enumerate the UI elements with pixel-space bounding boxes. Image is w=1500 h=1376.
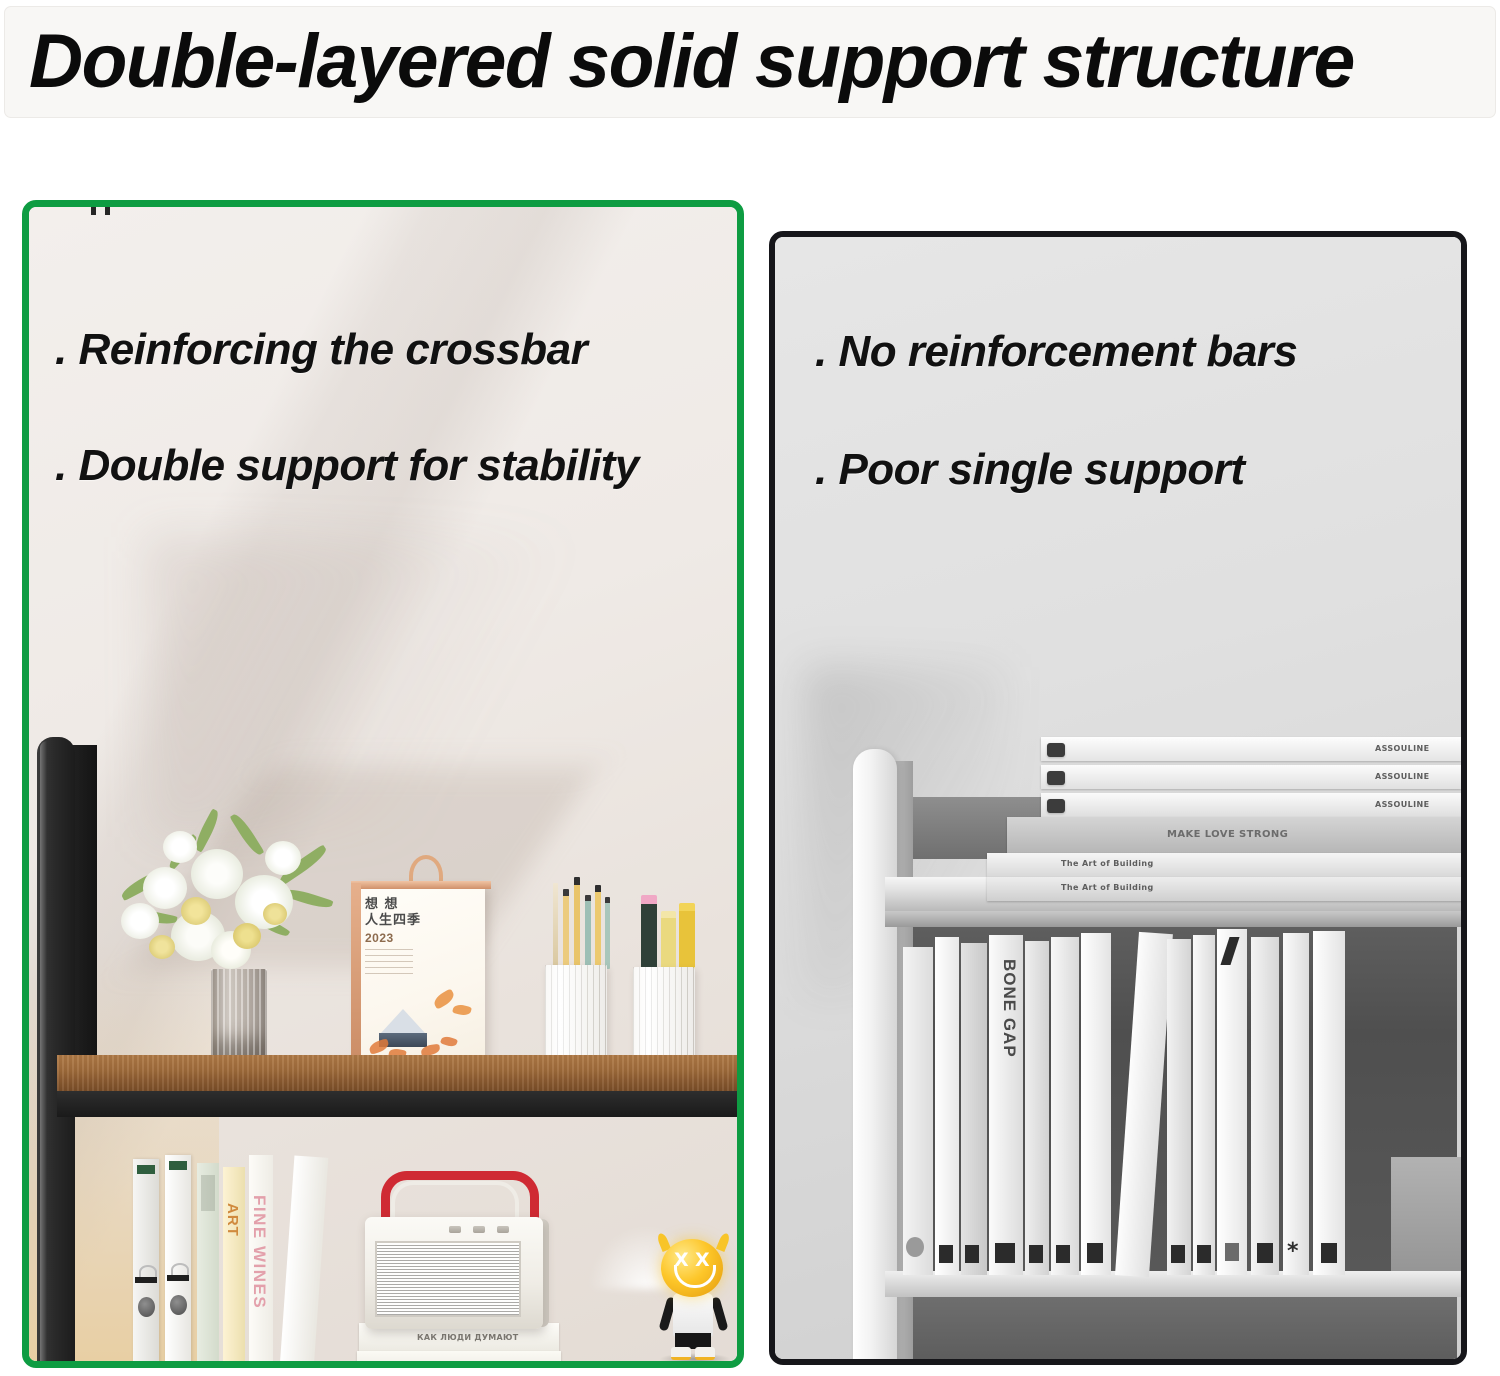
standing-book-7 bbox=[1167, 939, 1191, 1275]
comparison-panel-bad: ASSOULINE ASSOULINE ASSOULINE MAKE LOVE … bbox=[769, 231, 1467, 1365]
middle-shelf-edge bbox=[885, 911, 1461, 927]
top-stacked-book-6 bbox=[987, 877, 1461, 901]
figurine-ear-right bbox=[716, 1232, 731, 1252]
calendar-headline-line1: 想 想 bbox=[365, 897, 399, 912]
good-photo-container: 想 想 人生四季 2023 bbox=[29, 207, 737, 1361]
radio-speaker-grille bbox=[375, 1241, 521, 1317]
standing-book-6 bbox=[1081, 933, 1111, 1275]
pen-holder-left-ribs bbox=[545, 965, 607, 1065]
top-stacked-book-6-title: The Art of Building bbox=[1061, 883, 1154, 892]
figurine-shoe-right bbox=[695, 1347, 715, 1360]
calendar-frame-left bbox=[351, 883, 361, 1077]
bad-product-photo: ASSOULINE ASSOULINE ASSOULINE MAKE LOVE … bbox=[775, 237, 1461, 1359]
top-stacked-book-5-title: The Art of Building bbox=[1061, 859, 1154, 868]
calendar-body-text bbox=[365, 949, 413, 979]
figurine-body bbox=[673, 1293, 713, 1337]
standing-book-9 bbox=[1217, 929, 1247, 1275]
good-product-photo: 想 想 人生四季 2023 bbox=[29, 207, 737, 1361]
book-spine-art: ART bbox=[224, 1203, 241, 1237]
comparison-panel-good: 想 想 人生四季 2023 bbox=[22, 200, 744, 1368]
headphone-hook-right bbox=[105, 207, 110, 215]
top-stacked-book-1-publisher: ASSOULINE bbox=[1375, 744, 1430, 753]
calendar-tent-shape bbox=[381, 1009, 425, 1033]
vase-ribbing bbox=[211, 969, 267, 1061]
top-stacked-book-5 bbox=[987, 853, 1461, 877]
standing-book-11 bbox=[1283, 933, 1309, 1275]
pen-holder-right-ribs bbox=[633, 967, 695, 1065]
white-frame-post bbox=[853, 749, 897, 1359]
bad-photo-container: ASSOULINE ASSOULINE ASSOULINE MAKE LOVE … bbox=[775, 237, 1461, 1359]
calendar-frame-top bbox=[351, 881, 491, 889]
standing-book-spine-bone-gap: BONE GAP bbox=[999, 959, 1019, 1058]
calendar-year: 2023 bbox=[365, 931, 394, 945]
top-stacked-book-2-publisher: ASSOULINE bbox=[1375, 772, 1430, 781]
standing-book-2 bbox=[935, 937, 959, 1275]
calendar-headline-line2: 人生四季 bbox=[365, 913, 421, 928]
standing-book-8 bbox=[1193, 935, 1215, 1275]
standing-book-asterisk: * bbox=[1287, 1239, 1299, 1264]
metal-frame-highlight bbox=[40, 741, 47, 1361]
flower-bouquet bbox=[115, 819, 345, 994]
standing-book-3 bbox=[961, 943, 987, 1275]
radio-knob-2 bbox=[473, 1226, 485, 1233]
standing-book-4 bbox=[1025, 941, 1049, 1275]
standing-book-1 bbox=[903, 947, 933, 1275]
top-stacked-book-4-title: MAKE LOVE STRONG bbox=[1167, 829, 1288, 840]
standing-book-5 bbox=[1051, 937, 1079, 1275]
wood-shelf-top-grain bbox=[57, 1055, 737, 1091]
standing-book-12 bbox=[1313, 931, 1345, 1275]
standing-book-10 bbox=[1251, 937, 1279, 1275]
title-banner: Double-layered solid support structure bbox=[4, 6, 1496, 118]
bottom-shelf-cavity bbox=[891, 1297, 1457, 1359]
book-spine-fine-wines: FINE WINES bbox=[249, 1195, 269, 1309]
page-title: Double-layered solid support structure bbox=[29, 24, 1354, 100]
stacked-book-1-title: КАК ЛЮДИ ДУМАЮТ bbox=[417, 1333, 519, 1342]
calendar-illustration bbox=[367, 995, 473, 1061]
radio-knob-3 bbox=[497, 1226, 509, 1233]
figurine-arm-right bbox=[710, 1296, 728, 1331]
radio-knob-1 bbox=[449, 1226, 461, 1233]
metal-rail-top bbox=[57, 1091, 737, 1117]
headphone-hook-left bbox=[91, 207, 96, 215]
stacked-book-2-title: ВСЕ, ЧТО МОЖНО СКАЗАТЬ В ОДНОМ СЛОВЕ bbox=[384, 1360, 577, 1361]
figurine-shoe-left bbox=[671, 1347, 691, 1360]
top-stacked-book-3-publisher: ASSOULINE bbox=[1375, 800, 1430, 809]
